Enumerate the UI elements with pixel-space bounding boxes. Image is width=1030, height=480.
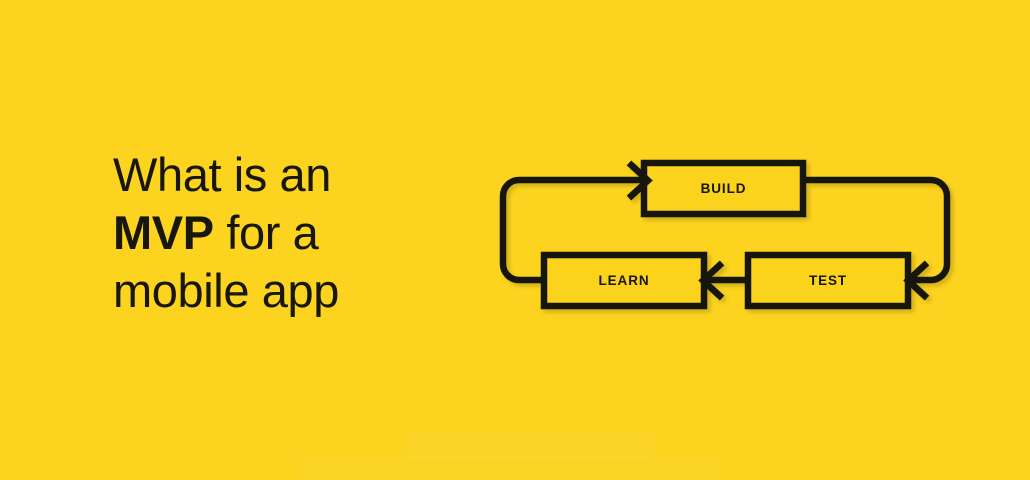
- edge-test-to-learn: [703, 263, 748, 298]
- headline-line-3: mobile app: [113, 262, 493, 320]
- headline-line-2-rest: for a: [214, 206, 319, 259]
- headline-line-2: MVP for a: [113, 204, 493, 262]
- build-test-learn-diagram: BUILD LEARN TEST: [495, 145, 955, 325]
- diagram-node-build[interactable]: BUILD: [644, 163, 803, 214]
- diagram-node-learn[interactable]: LEARN: [544, 255, 704, 306]
- headline-emphasis-mvp: MVP: [113, 206, 214, 259]
- diagram-node-learn-label: LEARN: [599, 273, 650, 288]
- background-band-artifact: [405, 432, 655, 458]
- background-band-artifact-lower: [300, 455, 720, 480]
- diagram-node-build-label: BUILD: [701, 181, 747, 196]
- diagram-node-test-label: TEST: [809, 273, 847, 288]
- page-title: What is an MVP for a mobile app: [113, 146, 493, 320]
- diagram-node-test[interactable]: TEST: [748, 255, 908, 306]
- slide-canvas: What is an MVP for a mobile app: [0, 0, 1030, 480]
- headline-line-1: What is an: [113, 146, 493, 204]
